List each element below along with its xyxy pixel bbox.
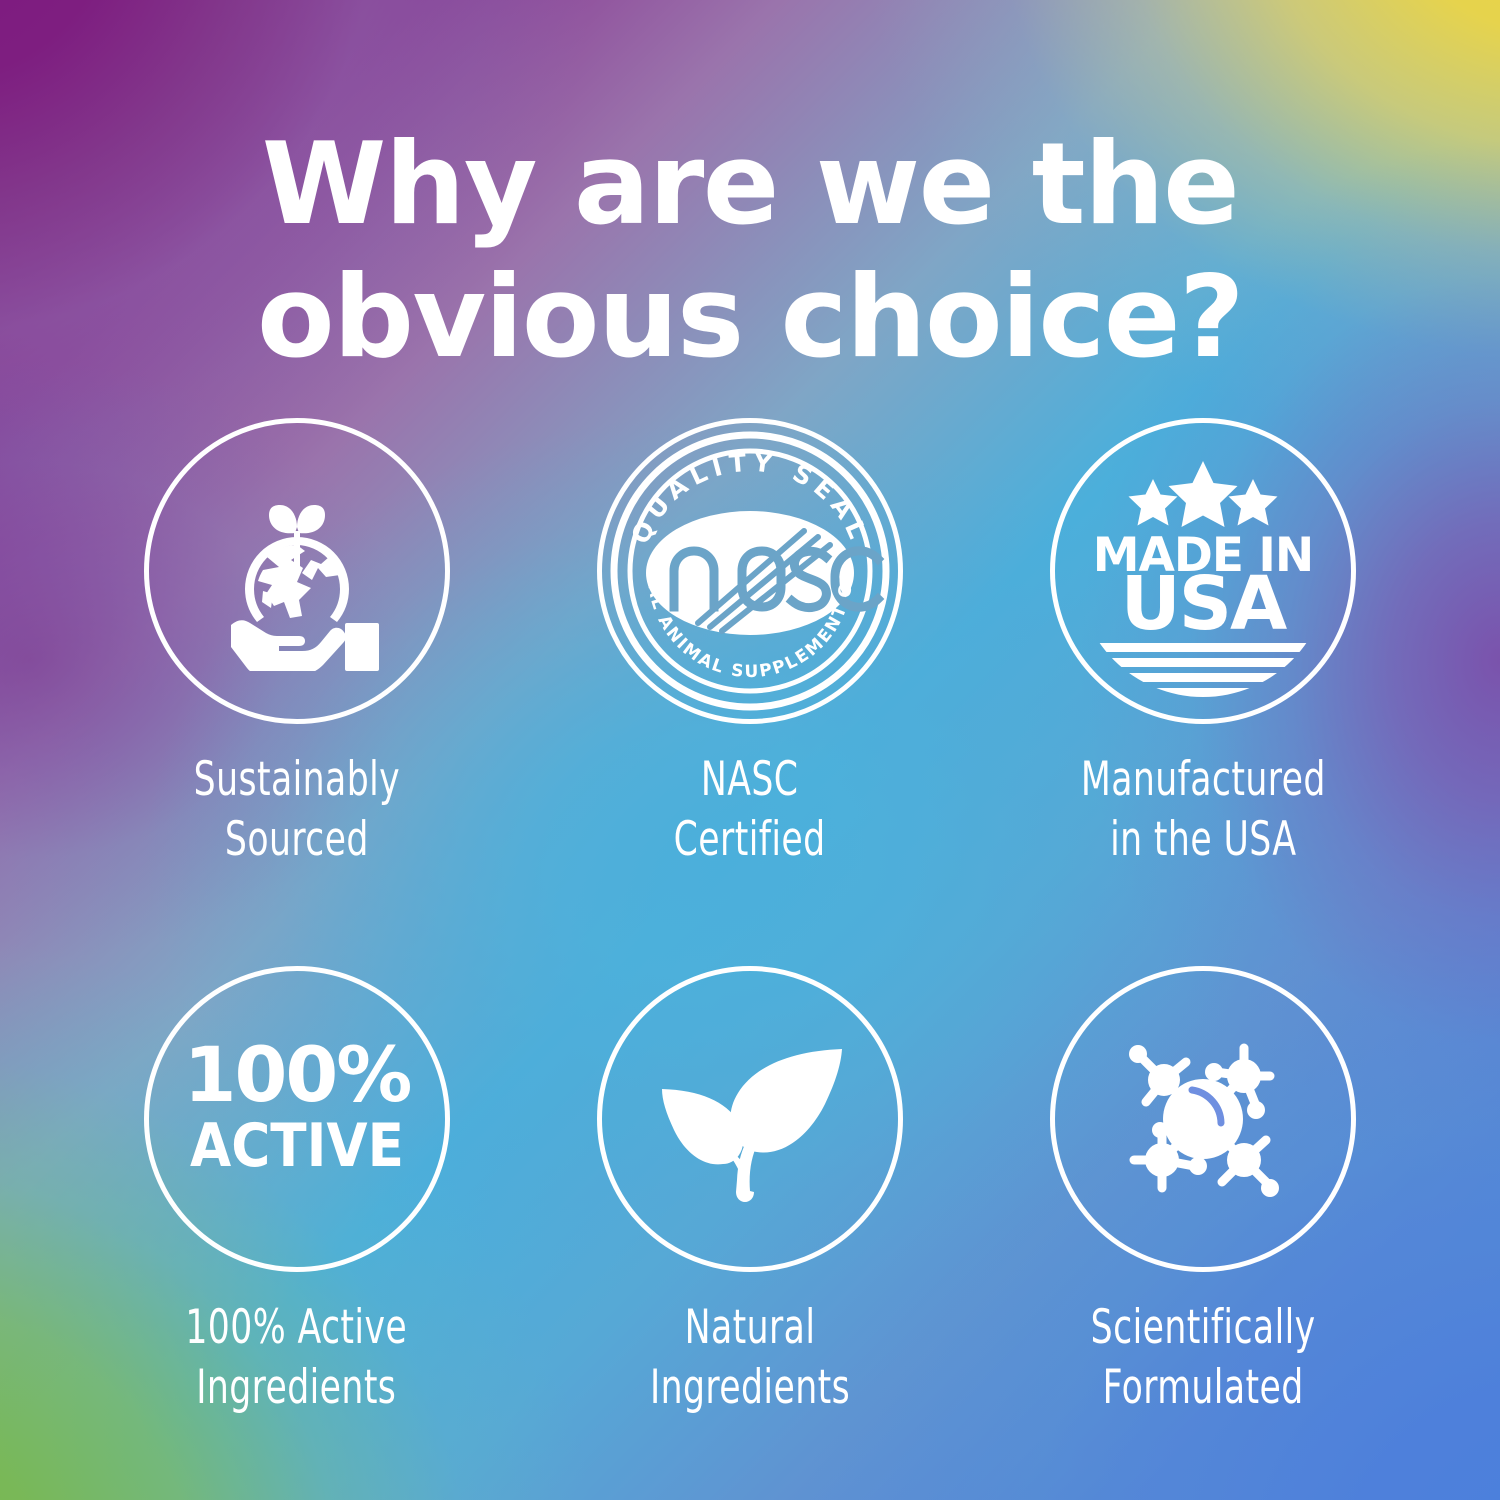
- nasc-quality-seal-icon: QUALITY SEAL NATIONAL ANIMAL SUPPLEMENT …: [606, 427, 894, 715]
- feature-caption: Manufactured in the USA: [1081, 750, 1326, 870]
- active-text: ACTIVE: [190, 1111, 404, 1181]
- feature-grid: Sustainably Sourced: [70, 418, 1430, 1419]
- stripes-group: [1067, 643, 1339, 697]
- feature-caption: Sustainably Sourced: [193, 750, 399, 870]
- molecule-icon: [1094, 1010, 1312, 1228]
- badge-nasc-certified: QUALITY SEAL NATIONAL ANIMAL SUPPLEMENT …: [597, 418, 903, 724]
- one-hundred-percent-active-icon: 100% ACTIVE: [172, 994, 422, 1244]
- badge-natural-ingredients: [597, 966, 903, 1272]
- feature-sustainably-sourced: Sustainably Sourced: [70, 418, 523, 870]
- feature-caption: Natural Ingredients: [650, 1298, 850, 1418]
- badge-100-percent-active: 100% ACTIVE: [144, 966, 450, 1272]
- feature-active-ingredients: 100% ACTIVE 100% Active Ingredients: [70, 966, 523, 1418]
- feature-manufactured-in-usa: MADE IN USA Manufactured in the USA: [977, 418, 1430, 870]
- made-in-usa-badge-icon: MADE IN USA: [1067, 435, 1339, 707]
- feature-natural-ingredients: Natural Ingredients: [523, 966, 976, 1418]
- feature-nasc-certified: QUALITY SEAL NATIONAL ANIMAL SUPPLEMENT …: [523, 418, 976, 870]
- percent-text: 100%: [183, 1030, 410, 1119]
- usa-text: USA: [1121, 561, 1287, 647]
- page-title: Why are we the obvious choice?: [0, 118, 1500, 385]
- badge-sustainably-sourced: [144, 418, 450, 724]
- feature-caption: 100% Active Ingredients: [186, 1298, 408, 1418]
- stars-group: [1129, 461, 1278, 527]
- two-leaves-icon: [646, 1015, 854, 1223]
- feature-scientifically-formulated: Scientifically Formulated: [977, 966, 1430, 1418]
- infographic-canvas: Why are we the obvious choice?: [0, 0, 1500, 1500]
- feature-caption: Scientifically Formulated: [1091, 1298, 1316, 1418]
- feature-caption: NASC Certified: [674, 750, 826, 870]
- badge-made-in-usa: MADE IN USA: [1050, 418, 1356, 724]
- globe-in-hand-with-sprout-icon: [197, 471, 397, 671]
- badge-scientifically-formulated: [1050, 966, 1356, 1272]
